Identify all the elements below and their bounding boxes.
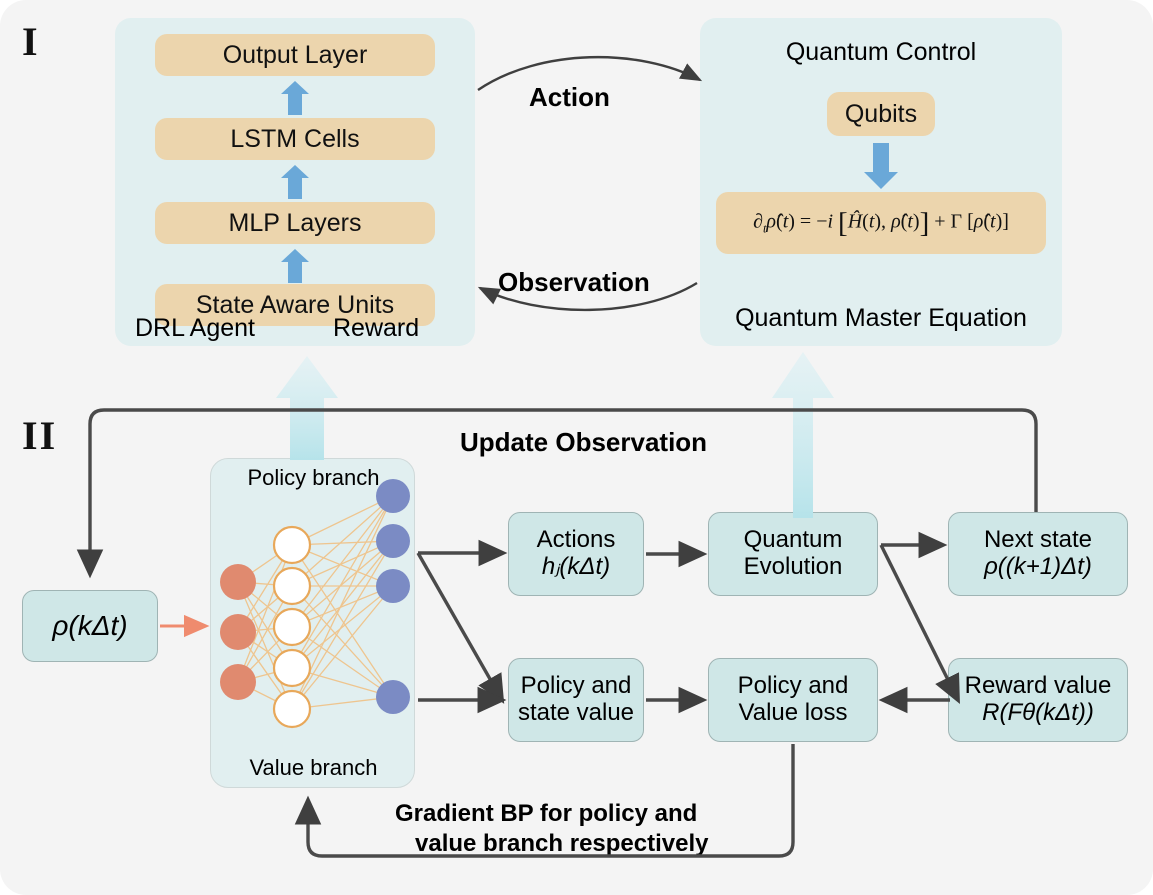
gradient-bp-label-line1: Gradient BP for policy and	[395, 800, 697, 828]
flow-box-actions[interactable]: Actions hⱼ(kΔt)	[508, 512, 644, 596]
flow-box-policy-state-value[interactable]: Policy and state value	[508, 658, 644, 742]
flow-box-line2: Value loss	[739, 700, 848, 727]
down-arrow-icon	[863, 142, 899, 195]
update-arrow-left-icon	[276, 356, 338, 460]
flow-box-policy-value-loss[interactable]: Policy and Value loss	[708, 658, 878, 742]
section-label-one: I	[22, 18, 40, 65]
quantum-master-equation-block: ∂tρ̂(t) = −i [Ĥ(t), ρ̂(t)] + Γ [ρ̂(t)]	[716, 192, 1046, 254]
quantum-control-panel: Quantum Control Qubits ∂tρ̂(t) = −i [Ĥ(…	[700, 18, 1062, 346]
flow-box-line1: Policy and	[521, 673, 632, 700]
figure-canvas: I II Output Layer LSTM Cells MLP Layers …	[0, 0, 1153, 895]
drl-agent-panel: Output Layer LSTM Cells MLP Layers State…	[115, 18, 475, 346]
flow-box-line2: state value	[518, 700, 634, 727]
agent-block-label: Output Layer	[223, 41, 368, 70]
qubits-label: Qubits	[845, 100, 917, 129]
agent-block-lstm-cells[interactable]: LSTM Cells	[155, 118, 435, 160]
qubits-block[interactable]: Qubits	[827, 92, 935, 136]
flow-box-reward-value[interactable]: Reward value R(Fθ(kΔt))	[948, 658, 1128, 742]
agent-block-output-layer[interactable]: Output Layer	[155, 34, 435, 76]
observation-label: Observation	[498, 267, 650, 298]
flow-box-line1: Next state	[984, 527, 1092, 554]
flow-box-line2: hⱼ(kΔt)	[542, 554, 610, 581]
update-arrow-right-icon	[772, 352, 834, 518]
drl-agent-caption: DRL Agent	[135, 314, 255, 343]
up-arrow-icon	[280, 80, 310, 116]
up-arrow-icon	[280, 248, 310, 284]
agent-block-label: MLP Layers	[229, 209, 362, 238]
reward-caption: Reward	[333, 314, 419, 343]
action-label: Action	[529, 82, 610, 113]
flow-box-line1: Policy and	[738, 673, 849, 700]
agent-block-label: LSTM Cells	[230, 125, 359, 154]
flow-box-quantum-evolution[interactable]: Quantum Evolution	[708, 512, 878, 596]
update-observation-label: Update Observation	[460, 427, 707, 458]
up-arrow-icon	[280, 164, 310, 200]
flow-box-line2: ρ((k+1)Δt)	[984, 554, 1092, 581]
flow-box-line1: Actions	[537, 527, 616, 554]
quantum-master-equation: ∂tρ̂(t) = −i [Ĥ(t), ρ̂(t)] + Γ [ρ̂(t)]	[753, 207, 1009, 240]
actor-critic-network-panel: Policy branch Value branch	[210, 458, 415, 788]
quantum-control-title: Quantum Control	[700, 38, 1062, 67]
section-label-two: II	[22, 412, 57, 459]
policy-branch-label: Policy branch	[211, 465, 416, 491]
state-box-label: ρ(kΔt)	[52, 610, 127, 641]
value-branch-label: Value branch	[211, 755, 416, 781]
flow-box-line2: Evolution	[744, 554, 843, 581]
flow-box-next-state[interactable]: Next state ρ((k+1)Δt)	[948, 512, 1128, 596]
flow-box-line1: Reward value	[965, 673, 1112, 700]
gradient-bp-label-line2: value branch respectively	[415, 830, 708, 858]
agent-block-mlp-layers[interactable]: MLP Layers	[155, 202, 435, 244]
flow-box-line2: R(Fθ(kΔt))	[982, 700, 1094, 727]
flow-box-line1: Quantum	[744, 527, 843, 554]
quantum-master-equation-caption: Quantum Master Equation	[700, 304, 1062, 333]
state-box[interactable]: ρ(kΔt)	[22, 590, 158, 662]
